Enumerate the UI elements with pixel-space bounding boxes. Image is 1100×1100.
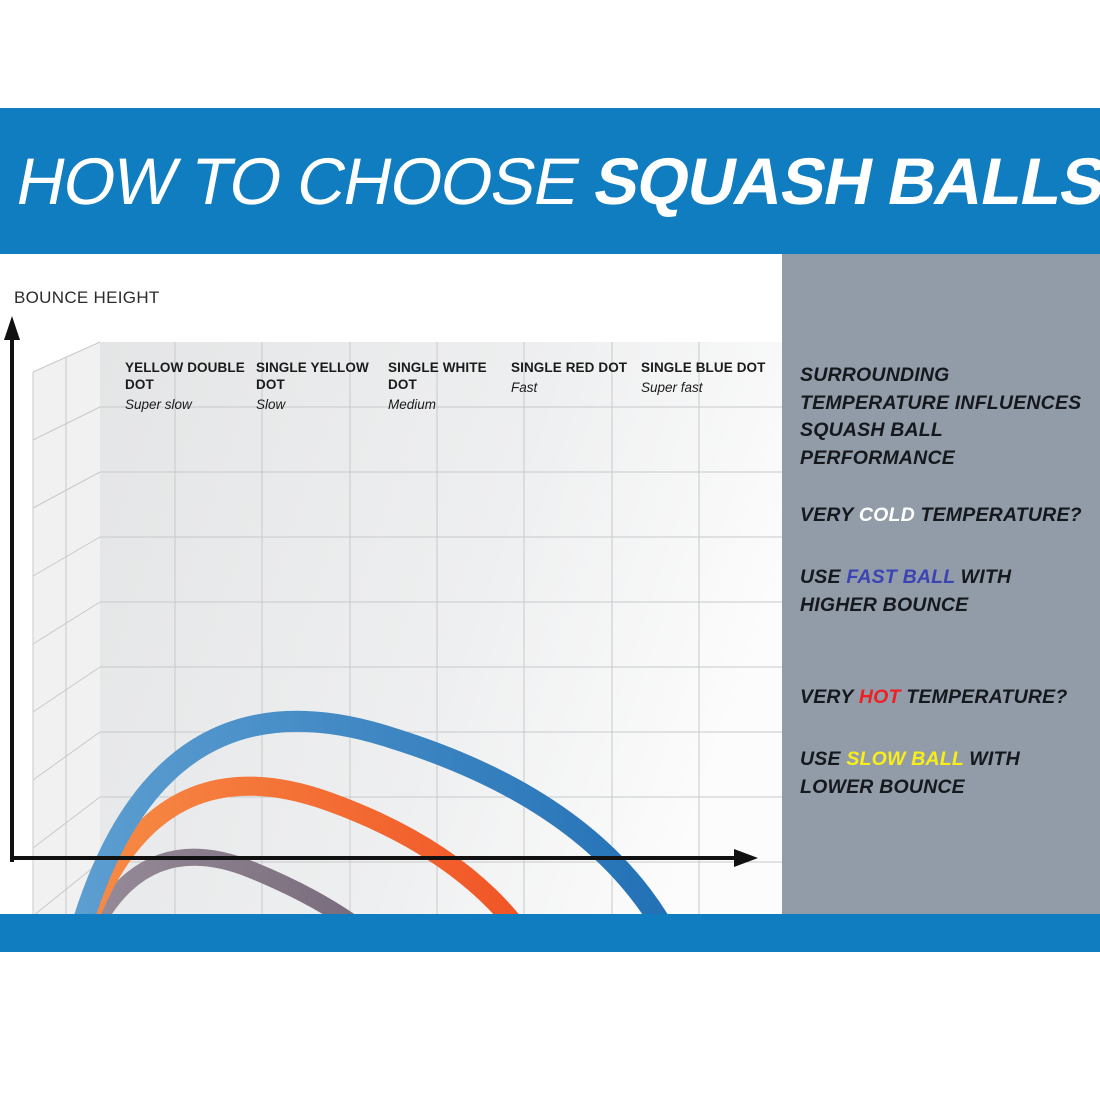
chart-area: BOUNCE HEIGHT LENGTH OF BALL FLIGHT [0, 254, 782, 914]
hot-answer-post: WITH [964, 748, 1020, 770]
page-title-bold: SQUASH BALLS [588, 144, 1100, 218]
slow-ball-highlight: SLOW BALL [846, 748, 963, 770]
cold-answer-line2: HIGHER BOUNCE [800, 594, 968, 616]
hot-question-pre: VERY [800, 686, 859, 708]
chart-back-wall [100, 342, 782, 914]
hot-answer-line2: LOWER BOUNCE [800, 776, 965, 798]
cold-question-pre: VERY [800, 504, 859, 526]
advice-hot-question: VERY HOT TEMPERATURE? [800, 684, 1086, 712]
cold-answer-pre: USE [800, 566, 846, 588]
advice-cold-answer: USE FAST BALL WITHHIGHER BOUNCE [800, 564, 1086, 619]
temperature-advice-panel: SURROUNDING TEMPERATURE INFLUENCES SQUAS… [782, 254, 1100, 914]
cold-question-post: TEMPERATURE? [915, 504, 1082, 526]
cold-answer-post: WITH [955, 566, 1011, 588]
cold-highlight: COLD [859, 504, 915, 526]
advice-cold-question: VERY COLD TEMPERATURE? [800, 502, 1086, 530]
advice-intro: SURROUNDING TEMPERATURE INFLUENCES SQUAS… [800, 362, 1086, 473]
page-title: HOW TO CHOOSE SQUASH BALLS [0, 148, 1100, 214]
fast-ball-highlight: FAST BALL [846, 566, 955, 588]
advice-hot-answer: USE SLOW BALL WITHLOWER BOUNCE [800, 746, 1086, 801]
hot-highlight: HOT [859, 686, 901, 708]
page-title-light: HOW TO CHOOSE [11, 144, 586, 218]
bottom-accent-band [0, 914, 1100, 952]
bounce-trajectory-plot [0, 254, 782, 914]
hot-question-post: TEMPERATURE? [901, 686, 1068, 708]
title-banner: HOW TO CHOOSE SQUASH BALLS [0, 108, 1100, 254]
hot-answer-pre: USE [800, 748, 846, 770]
